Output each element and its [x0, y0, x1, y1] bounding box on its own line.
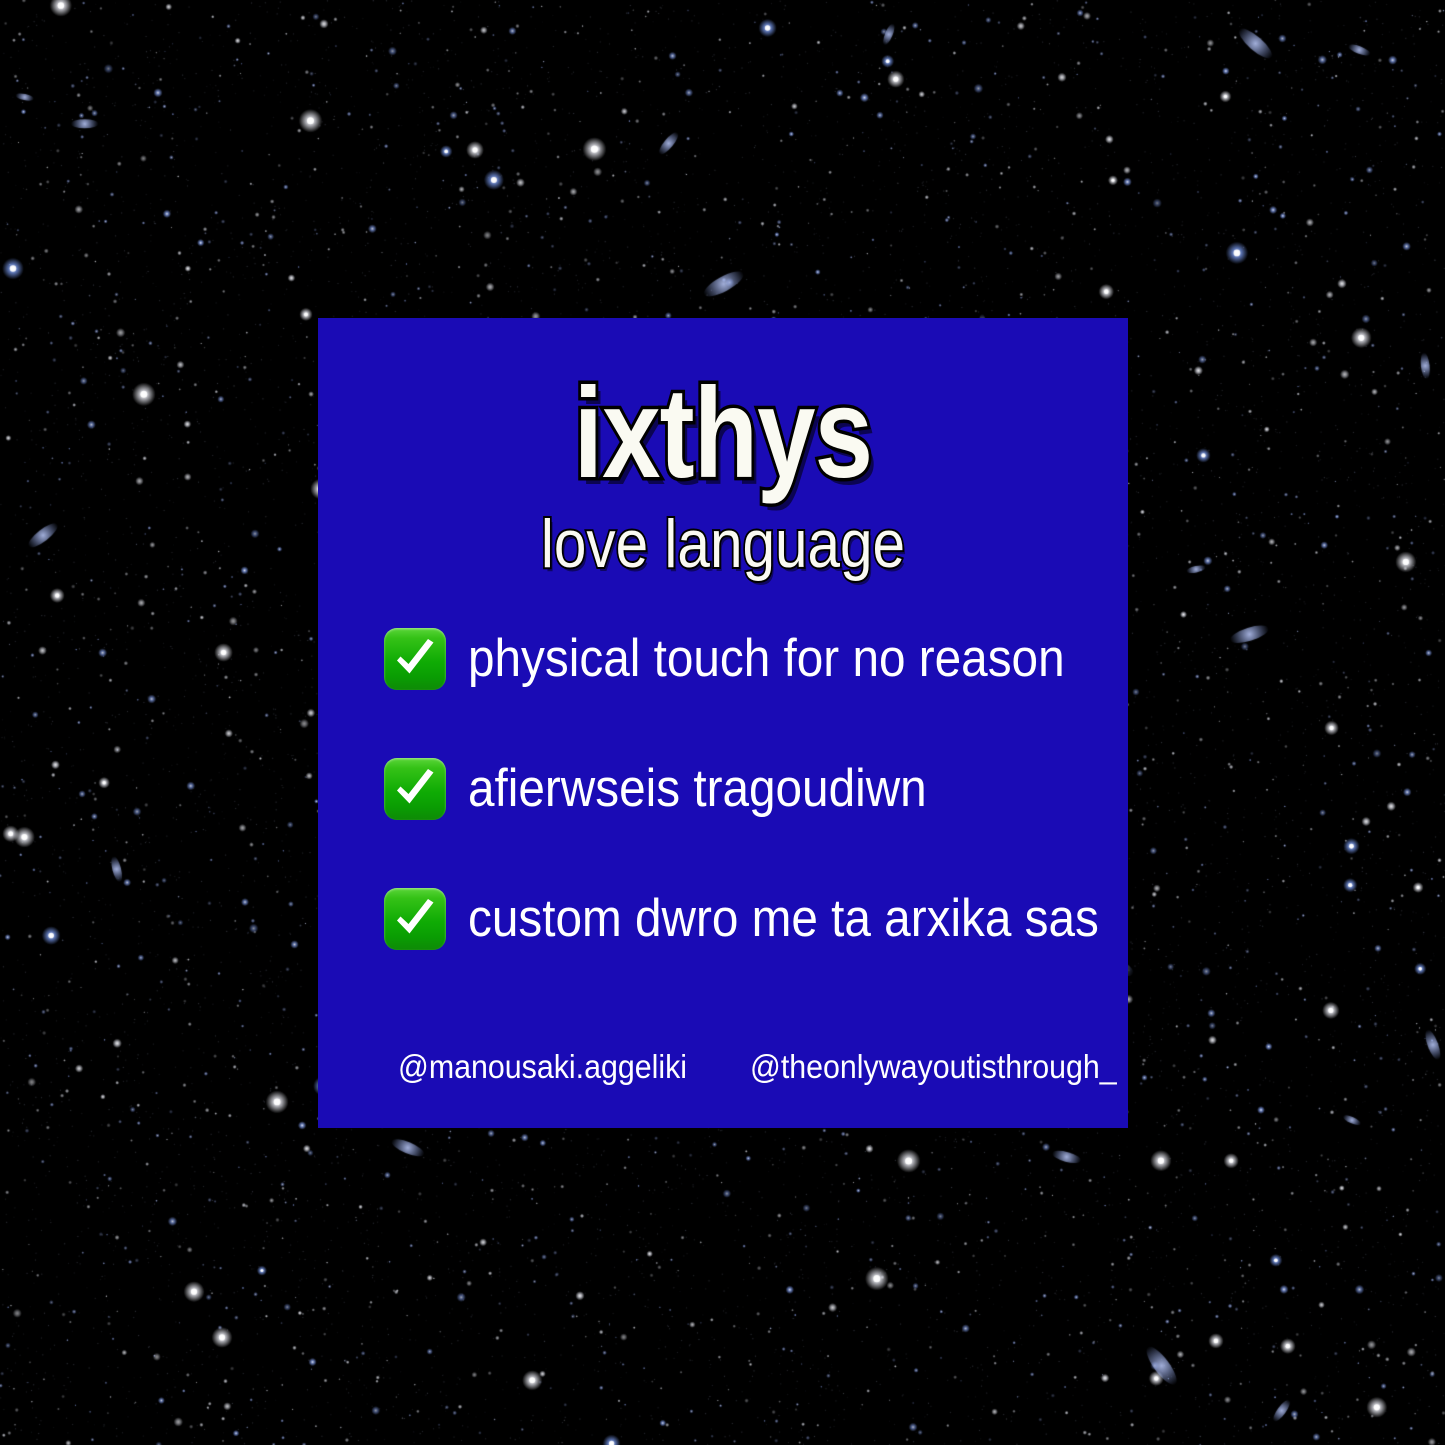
- credit-handle-secondary: @theonlywayoutisthrough_: [750, 1048, 1117, 1086]
- white-check-mark-icon: [384, 888, 446, 950]
- list-item-label: afierwseis tragoudiwn: [468, 758, 927, 820]
- list-item-label: custom dwro me ta arxika sas: [468, 888, 1099, 950]
- list-item-label: physical touch for no reason: [468, 628, 1065, 690]
- credit-handle-primary: @manousaki.aggeliki: [398, 1048, 687, 1086]
- title-block: ixthys love language: [318, 370, 1128, 578]
- blue-content-card: ixthys love language physical touch for …: [318, 318, 1128, 1128]
- checklist: physical touch for no reason afierwseis …: [384, 628, 1104, 950]
- list-item: custom dwro me ta arxika sas: [384, 888, 1104, 950]
- meme-image: ixthys love language physical touch for …: [0, 0, 1445, 1445]
- list-item: afierwseis tragoudiwn: [384, 758, 1104, 820]
- white-check-mark-icon: [384, 758, 446, 820]
- credits-row: @manousaki.aggeliki @theonlywayoutisthro…: [398, 1048, 1149, 1086]
- page-subtitle: love language: [375, 510, 1072, 578]
- white-check-mark-icon: [384, 628, 446, 690]
- page-title: ixthys: [391, 370, 1055, 498]
- list-item: physical touch for no reason: [384, 628, 1104, 690]
